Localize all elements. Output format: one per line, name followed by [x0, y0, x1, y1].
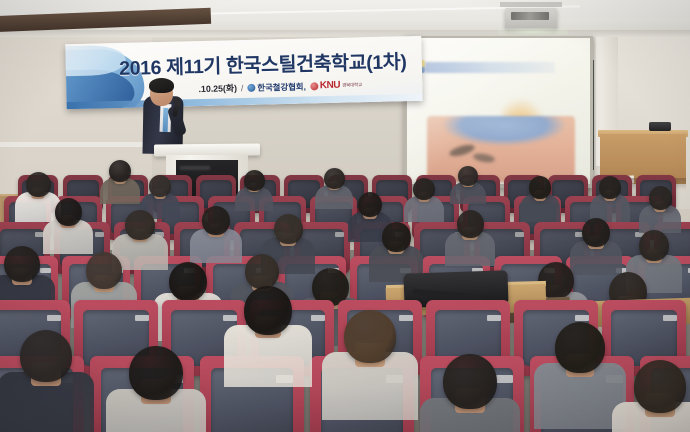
lecture-hall-photograph: 2016 제11기 한국스틸건축학교(1차) .10.25(화) / 한국철강협… — [0, 0, 690, 432]
audience-head — [649, 186, 672, 210]
seat-number-tag — [663, 315, 676, 321]
audience-head — [244, 286, 292, 335]
seat-number-tag — [496, 375, 513, 383]
audience-head — [582, 218, 610, 247]
seat-number-tag — [515, 232, 524, 236]
audience-head — [55, 198, 82, 226]
ksa-logo: 한국철강협회, — [247, 80, 306, 93]
seat-number-tag — [223, 315, 236, 321]
audience-head — [382, 222, 411, 252]
audience-head — [413, 178, 435, 200]
audience-head — [86, 252, 122, 289]
audience-head — [639, 230, 669, 261]
audience-head — [4, 246, 40, 282]
audience-head — [457, 210, 484, 238]
event-banner: 2016 제11기 한국스틸건축학교(1차) .10.25(화) / 한국철강협… — [65, 36, 422, 109]
audience-head — [458, 166, 478, 186]
banner-title: 2016 제11기 한국스틸건축학교(1차) — [109, 45, 416, 81]
seat-number-tag — [399, 315, 412, 321]
audience-head — [129, 346, 183, 400]
seat-number-tag — [311, 315, 324, 321]
knu-shield-icon — [310, 82, 318, 90]
audience-head — [358, 192, 382, 217]
banner-separator: / — [241, 83, 244, 93]
audience-head — [529, 176, 551, 199]
audience-head — [26, 172, 51, 197]
podium-highlight — [180, 166, 210, 170]
audience-head — [344, 310, 396, 363]
audience-head — [109, 160, 131, 182]
audience-head — [149, 175, 171, 197]
knu-name: 경북대학교 — [342, 82, 362, 88]
banner-date: .10.25(화) — [198, 81, 237, 95]
audience-head — [324, 168, 345, 189]
screen-glare — [407, 38, 590, 184]
audience-head — [599, 176, 621, 199]
seat-number-tag — [335, 232, 344, 236]
audience-head — [169, 262, 207, 301]
audience-head — [244, 170, 265, 191]
audience-head — [274, 214, 303, 244]
knu-abbr: KNU — [320, 80, 340, 91]
seat-number-tag — [40, 268, 51, 273]
audience-head — [125, 210, 155, 240]
audience-head — [202, 206, 230, 235]
projector-glow — [498, 28, 568, 36]
audience-head — [20, 330, 72, 382]
ksa-label: 한국철강협회, — [257, 80, 306, 93]
ksa-globe-icon — [247, 83, 255, 91]
audience-head — [555, 322, 605, 373]
projector-lens — [511, 12, 549, 20]
speaker-hair — [149, 78, 174, 93]
wall-trim-upper — [0, 142, 152, 147]
banner-subtitle: .10.25(화) / 한국철강협회, KNU 경북대학교 — [146, 77, 414, 96]
audience-head — [634, 360, 686, 413]
av-equipment — [649, 122, 671, 131]
seat-number-tag — [135, 315, 148, 321]
projector-mount — [500, 2, 562, 7]
seat-number-tag — [95, 232, 104, 236]
seat-number-tag — [575, 315, 588, 321]
audience-head — [245, 254, 279, 289]
seat-number-tag — [47, 315, 60, 321]
microphone-capsule — [173, 97, 180, 104]
ceiling-projector-icon — [505, 8, 557, 30]
seat-number-tag — [487, 315, 500, 321]
audience-head — [443, 354, 497, 409]
knu-logo: KNU 경북대학교 — [310, 79, 363, 91]
